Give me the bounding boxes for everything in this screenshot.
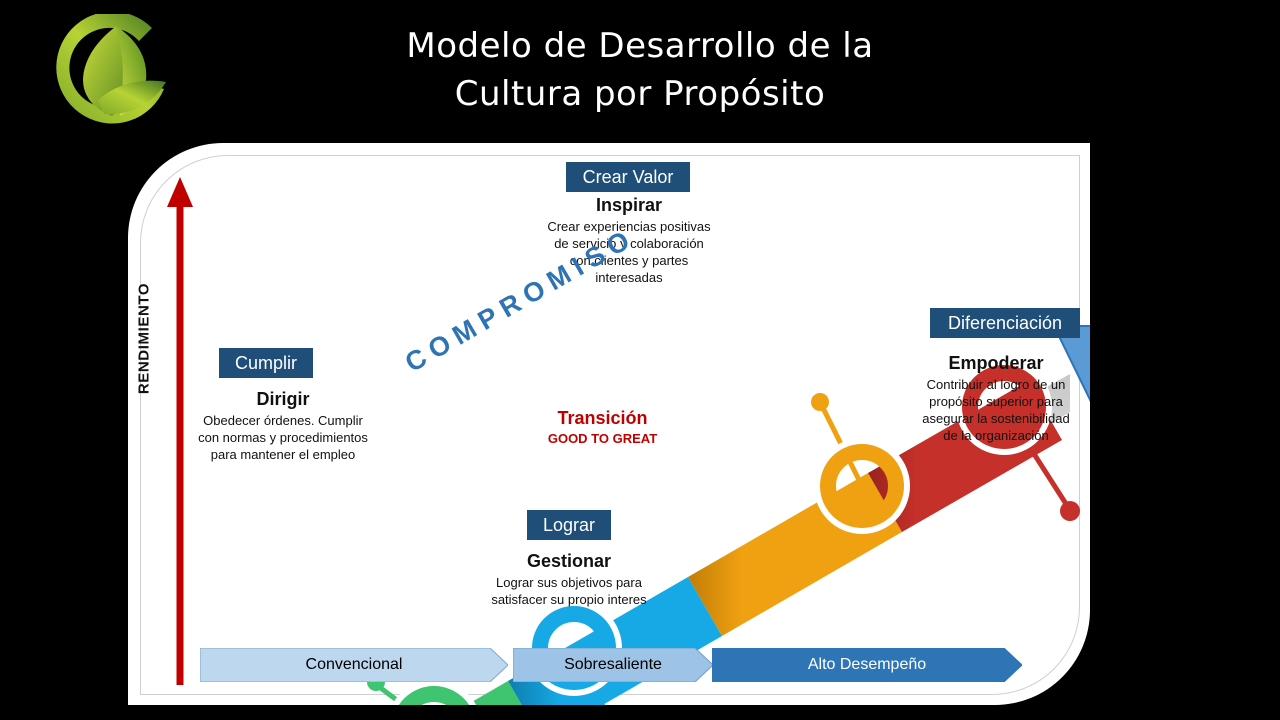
badge-cumplir[interactable]: Cumplir [219, 348, 313, 378]
maturity-band [256, 286, 1090, 705]
axis-label-rendimiento: RENDIMIENTO [136, 269, 153, 409]
chevron-alto-desempeno[interactable]: Alto Desempeño [712, 648, 1022, 682]
transition-title: Transición [505, 406, 700, 430]
stage-heading-empoderar: Empoderar [920, 352, 1072, 374]
transition-subtitle: GOOD TO GREAT [505, 430, 700, 448]
stage-heading-inspirar: Inspirar [546, 194, 712, 216]
page-title: Modelo de Desarrollo de la Cultura por P… [300, 22, 980, 118]
chevron-sobresaliente[interactable]: Sobresaliente [513, 648, 713, 682]
stage-body-dirigir: Obedecer órdenes. Cumplir con normas y p… [193, 412, 373, 463]
title-line-2: Cultura por Propósito [300, 70, 980, 118]
chevron-label-sobresaliente: Sobresaliente [564, 656, 662, 674]
stage-body-gestionar: Lograr sus objetivos para satisfacer su … [489, 574, 649, 608]
stage-block-empoderar: Empoderar Contribuir al logro de un prop… [920, 352, 1072, 444]
badge-crear-valor[interactable]: Crear Valor [566, 162, 690, 192]
title-line-1: Modelo de Desarrollo de la [406, 26, 873, 66]
transition-callout: Transición GOOD TO GREAT [505, 406, 700, 448]
stage-body-empoderar: Contribuir al logro de un propósito supe… [920, 376, 1072, 444]
chevron-label-alto-desempeno: Alto Desempeño [808, 656, 926, 674]
stage-heading-gestionar: Gestionar [489, 550, 649, 572]
badge-lograr[interactable]: Lograr [527, 510, 611, 540]
slide-root: Modelo de Desarrollo de la Cultura por P… [0, 0, 1280, 720]
stage-block-dirigir: Dirigir Obedecer órdenes. Cumplir con no… [193, 388, 373, 463]
stage-block-gestionar: Gestionar Lograr sus objetivos para sati… [489, 550, 649, 608]
badge-diferenciacion[interactable]: Diferenciación [930, 308, 1080, 338]
chevron-label-convencional: Convencional [306, 656, 403, 674]
performance-axis-arrow [165, 175, 195, 685]
stage-heading-dirigir: Dirigir [193, 388, 373, 410]
leaf-circle-logo [42, 14, 192, 132]
maturity-chevron-bar: Convencional Sobresaliente Alto Desempeñ… [200, 648, 1025, 682]
chevron-convencional[interactable]: Convencional [200, 648, 508, 682]
